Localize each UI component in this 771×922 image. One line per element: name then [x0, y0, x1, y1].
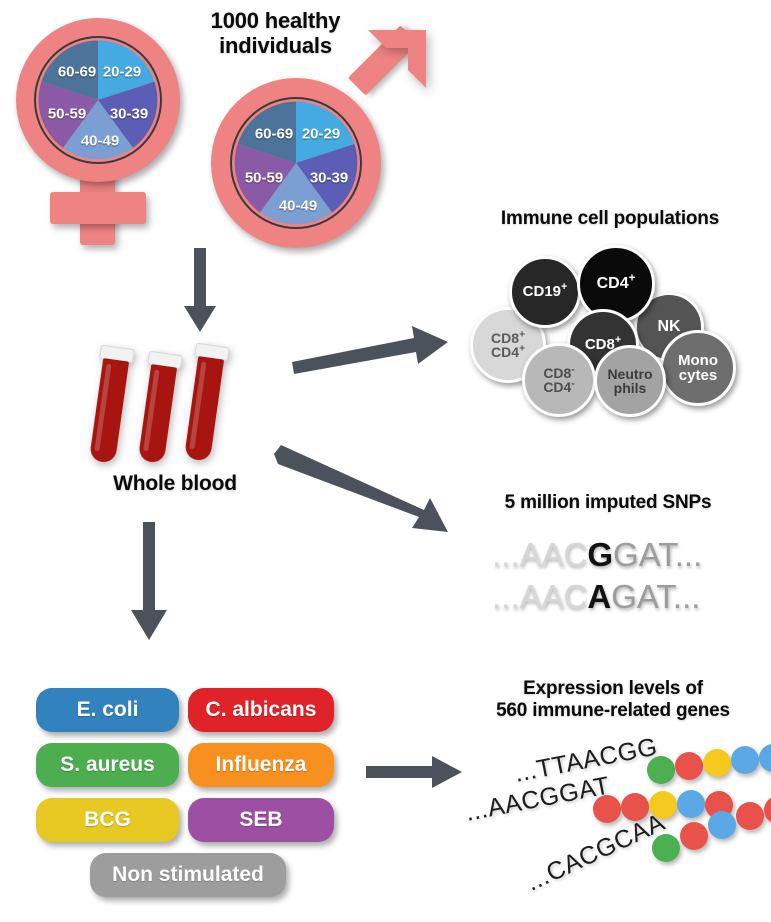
expression-bead — [652, 834, 680, 862]
blood-tube-3 — [180, 343, 230, 465]
stimulus-box-influenza[interactable]: Influenza — [188, 743, 334, 787]
male-symbol: 20-29 30-39 40-49 50-59 60-69 — [205, 22, 435, 252]
male-age-pie-svg — [232, 99, 360, 227]
stimulus-box-c-albicans[interactable]: C. albicans — [188, 688, 334, 732]
immune-cell-label: Neutrophils — [607, 367, 652, 396]
stimulus-box-seb[interactable]: SEB — [188, 798, 334, 842]
stimulus-label: BCG — [84, 808, 131, 832]
expression-bead — [703, 749, 731, 777]
arrow-stimuli-to-expression — [366, 756, 464, 790]
arrow-blood-to-stimuli — [127, 522, 173, 644]
female-symbol: 20-29 30-39 40-49 50-59 60-69 — [8, 10, 188, 250]
snp-prefix: ...AAC — [492, 578, 587, 615]
snp-sequence-row-1: ...AACGGAT... — [492, 536, 702, 574]
snp-suffix: GAT... — [613, 536, 702, 573]
expression-bead — [593, 795, 621, 823]
male-age-pie: 20-29 30-39 40-49 50-59 60-69 — [230, 97, 362, 229]
stimulus-box-e-coli[interactable]: E. coli — [36, 688, 179, 732]
stimulus-label: Non stimulated — [112, 863, 264, 887]
stimulus-label: SEB — [239, 808, 282, 832]
snp-heading: 5 million imputed SNPs — [458, 492, 758, 514]
arrow-blood-to-immune-cells — [290, 322, 450, 370]
immune-cell-heading: Immune cell populations — [455, 208, 765, 230]
immune-cell-CD19plus: CD19+ — [509, 256, 581, 328]
snp-variant-allele: G — [587, 536, 613, 573]
expression-bead — [759, 744, 771, 772]
blood-tube-2 — [134, 351, 183, 467]
stimulus-box-non-stimulated[interactable]: Non stimulated — [90, 853, 286, 897]
expression-bead — [677, 790, 705, 818]
expression-bead — [731, 746, 759, 774]
expression-strand-3: ...CACGCAA — [528, 842, 771, 892]
blood-tube-1 — [85, 345, 135, 467]
whole-blood-label: Whole blood — [85, 472, 265, 496]
arrow-blood-to-snps — [272, 448, 452, 538]
immune-cell-label: CD19+ — [523, 284, 568, 299]
immune-cell-label: CD8-CD4- — [543, 366, 574, 395]
arrow-cohort-to-blood — [178, 248, 222, 340]
figure-canvas: 1000 healthy individuals 20-29 30-39 40-… — [0, 0, 771, 922]
expression-bead — [675, 752, 703, 780]
snp-variant-allele: A — [587, 578, 611, 615]
whole-blood-tubes — [95, 345, 275, 465]
female-age-pie-svg — [36, 38, 160, 162]
stimulus-label: S. aureus — [60, 753, 155, 777]
expression-bead — [736, 802, 764, 830]
stimulus-label: E. coli — [77, 698, 139, 722]
expression-heading-line1: Expression levels of — [462, 678, 764, 700]
immune-cell-label: CD4+ — [597, 276, 636, 292]
immune-cell-label: NK — [657, 319, 680, 335]
immune-cell-label: Monocytes — [678, 353, 718, 384]
expression-bead — [680, 822, 708, 850]
female-age-pie: 20-29 30-39 40-49 50-59 60-69 — [34, 36, 162, 164]
stimulus-box-s-aureus[interactable]: S. aureus — [36, 743, 179, 787]
immune-cell-Monocytes: Monocytes — [660, 330, 736, 406]
expression-bead — [647, 756, 675, 784]
immune-cell-CD8minus-CD4minus: CD8-CD4- — [522, 343, 596, 417]
stimulus-label: Influenza — [215, 753, 306, 777]
expression-heading: Expression levels of 560 immune-related … — [462, 678, 764, 722]
snp-suffix: GAT... — [611, 578, 700, 615]
stimulus-label: C. albicans — [206, 698, 317, 722]
immune-cell-label: CD8+CD4+ — [491, 331, 525, 360]
male-symbol-arrow-head — [352, 28, 428, 104]
stimulus-box-bcg[interactable]: BCG — [36, 798, 179, 842]
expression-heading-line2: 560 immune-related genes — [462, 700, 764, 722]
snp-prefix: ...AAC — [492, 536, 587, 573]
expression-bead — [764, 796, 771, 824]
immune-cell-Neutrophils: Neutrophils — [594, 345, 666, 417]
snp-sequence-row-2: ...AACAGAT... — [492, 578, 700, 616]
expression-bead — [708, 811, 736, 839]
female-symbol-crossbar — [50, 192, 146, 224]
